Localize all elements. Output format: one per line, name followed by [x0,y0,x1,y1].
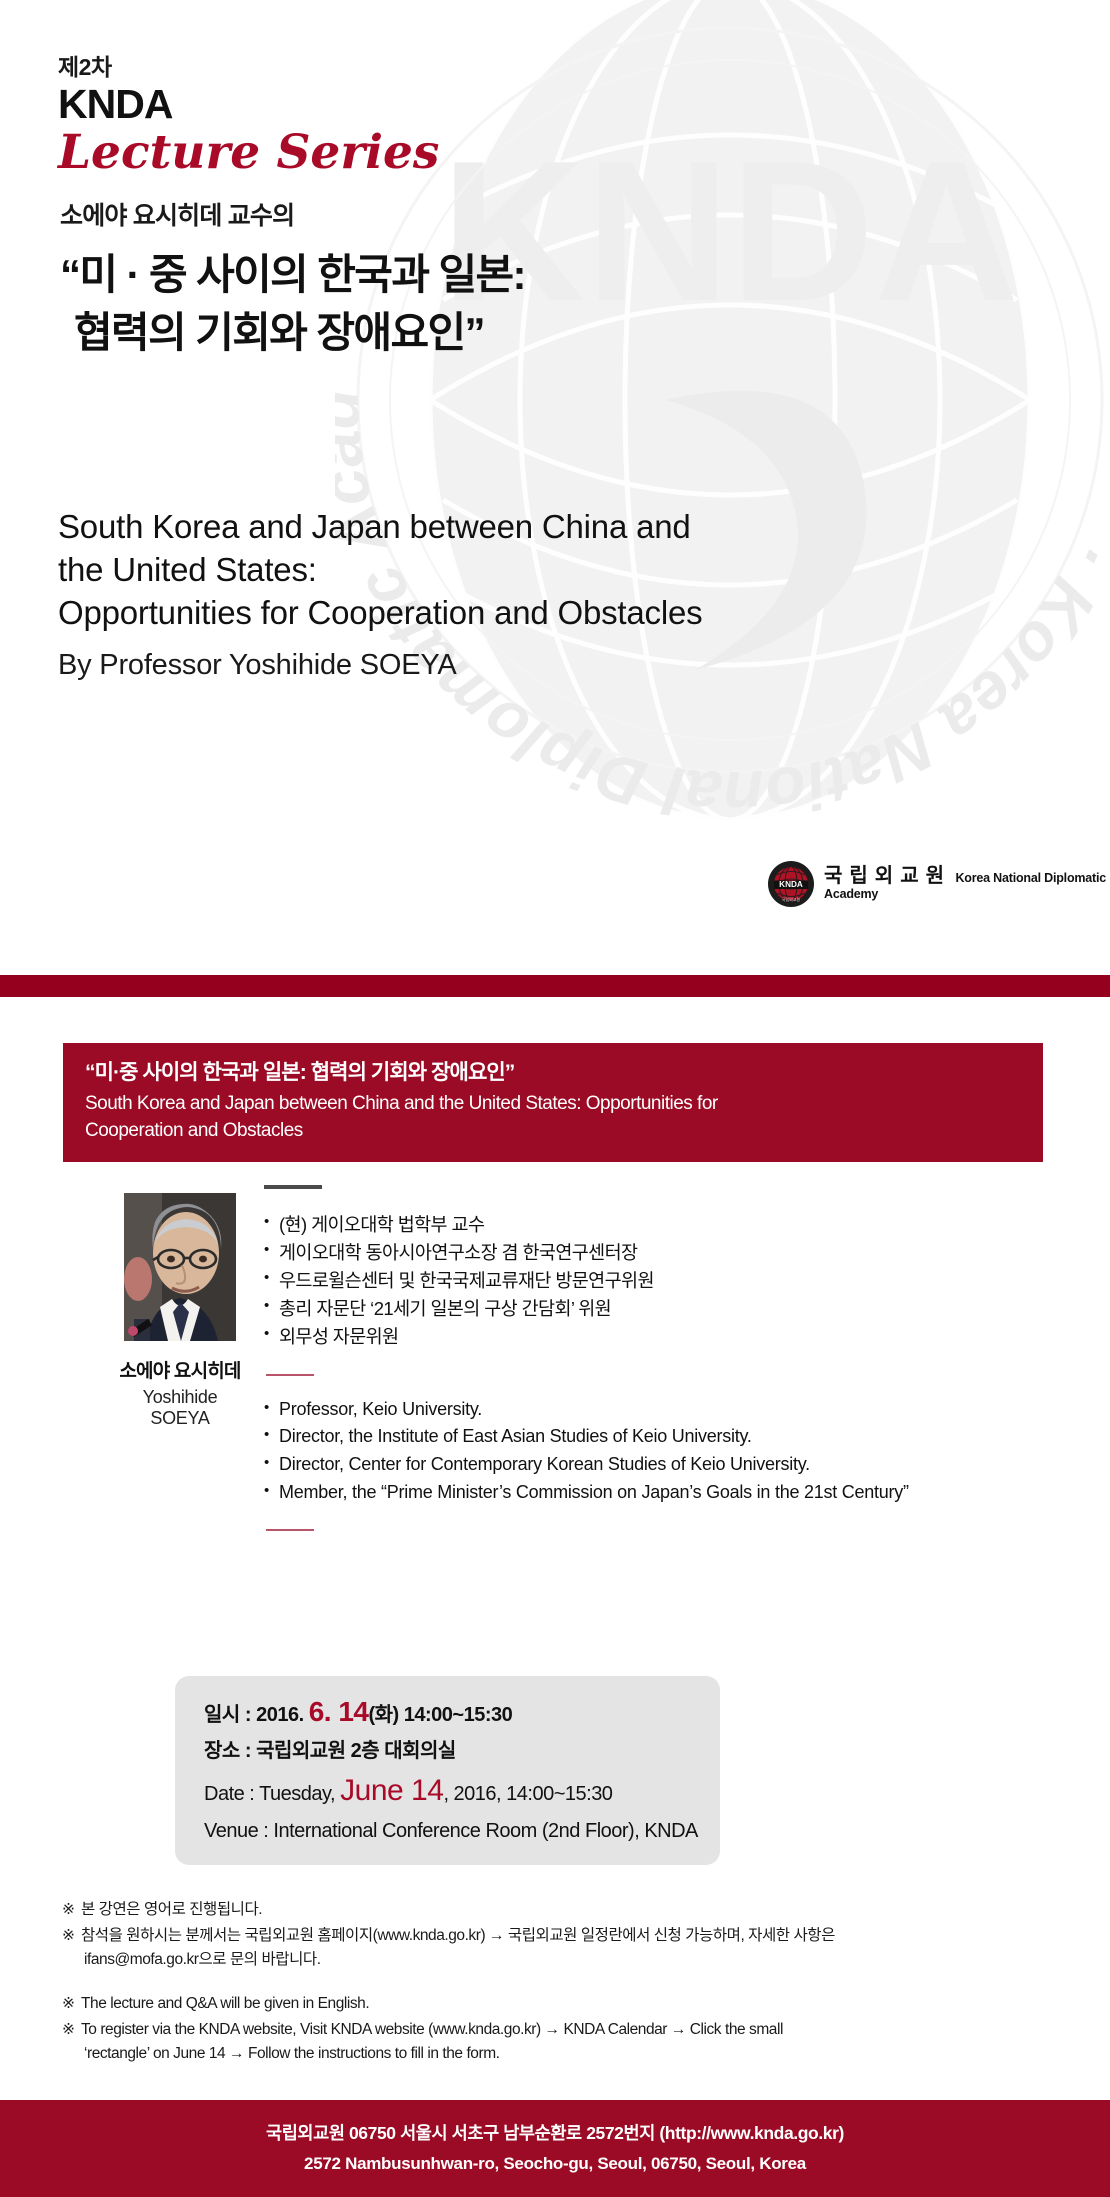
poster-header-section: 제2차 KNDA Lecture Series 소에야 요시히데 교수의 “미 … [0,0,1110,975]
banner-title-korean: “미·중 사이의 한국과 일본: 협력의 기회와 장애요인” [85,1059,1021,1086]
banner-title-english: South Korea and Japan between China and … [85,1091,1021,1143]
note-item: ※The lecture and Q&A will be given in En… [62,1992,1062,2016]
event-venue-korean: 장소 : 국립외교원 2층 대회의실 [204,1741,694,1761]
list-item: Director, the Institute of East Asian St… [264,1423,1024,1451]
bio-rule-middle [266,1374,314,1376]
english-title-line-2: the United States: [58,548,858,591]
speaker-byline: By Professor Yoshihide SOEYA [58,649,858,682]
knda-globe-emblem-icon: KNDA 국립외교원 [767,860,815,908]
korean-pretitle: 소에야 요시히데 교수의 [60,196,800,232]
speaker-bio: (현) 게이오대학 법학부 교수 게이오대학 동아시아연구소장 겸 한국연구센터… [264,1185,1024,1551]
notes-english: ※The lecture and Q&A will be given in En… [62,1992,1062,2066]
korean-title: “미 · 중 사이의 한국과 일본: 협력의 기회와 장애요인” [60,246,800,362]
list-item: 외무성 자문위원 [264,1323,1024,1351]
note-text: The lecture and Q&A will be given in Eng… [81,1995,369,2012]
english-title-block: South Korea and Japan between China and … [58,505,858,682]
list-item: 게이오대학 동아시아연구소장 겸 한국연구센터장 [264,1239,1024,1267]
footer-address-english: 2572 Nambusunhwan-ro, Seocho-gu, Seoul, … [304,2149,806,2179]
korean-title-line-2: 협력의 기회와 장애요인” [60,304,800,362]
note-item: ※본 강연은 영어로 진행됩니다. [62,1898,1062,1922]
speaker-photo [124,1193,236,1341]
korean-title-line-1: “미 · 중 사이의 한국과 일본: [60,251,525,298]
note-text: 참석을 원하시는 분께서는 국립외교원 홈페이지(www.knda.go.kr)… [81,1927,835,1944]
event-venue-english: Venue : International Conference Room (2… [204,1821,694,1841]
banner-english-line-2: Cooperation and Obstacles [85,1118,1021,1144]
bio-rule-top [264,1185,322,1189]
bio-list-korean: (현) 게이오대학 법학부 교수 게이오대학 동아시아연구소장 겸 한국연구센터… [264,1211,1024,1352]
speaker-name-korean: 소에야 요시히데 [116,1356,244,1383]
note-mark-icon: ※ [62,1898,75,1922]
note-mark-icon: ※ [62,1992,75,2016]
note-text: To register via the KNDA website, Visit … [81,2021,783,2038]
poster-footer: 국립외교원 06750 서울시 서초구 남부순환로 2572번지 (http:/… [0,2100,1110,2197]
event-date-korean-highlight: 6. 14 [309,1696,369,1727]
english-title-line-1: South Korea and Japan between China and [58,505,858,548]
event-date-korean: 일시 : 2016. 6. 14(화) 14:00~15:30 [204,1698,694,1726]
list-item: Director, Center for Contemporary Korean… [264,1451,1024,1479]
list-item: Professor, Keio University. [264,1396,1024,1424]
note-text-continued: ifans@mofa.go.kr으로 문의 바랍니다. [81,1948,1062,1972]
series-block: 제2차 KNDA Lecture Series [58,55,439,180]
note-text: 본 강연은 영어로 진행됩니다. [81,1901,262,1918]
event-details-box: 일시 : 2016. 6. 14(화) 14:00~15:30 장소 : 국립외… [175,1676,720,1865]
banner-english-line-1: South Korea and Japan between China and … [85,1091,1021,1117]
org-abbreviation: KNDA [58,82,439,128]
bio-list-english: Professor, Keio University. Director, th… [264,1396,1024,1508]
lecture-title-banner: “미·중 사이의 한국과 일본: 협력의 기회와 장애요인” South Kor… [63,1043,1043,1162]
event-date-korean-label: 일시 : [204,1704,256,1726]
note-item: ※To register via the KNDA website, Visit… [62,2018,1062,2066]
logo-text-block: 국립외교원 Korea National Diplomatic Academy [824,866,1110,903]
note-mark-icon: ※ [62,2018,75,2042]
svg-text:KNDA: KNDA [779,880,803,889]
event-date-english-rest: , 2016, 14:00~15:30 [443,1783,612,1805]
english-title: South Korea and Japan between China and … [58,505,858,635]
event-date-korean-year: 2016. [256,1704,309,1726]
knda-logo: KNDA 국립외교원 국립외교원 Korea National Diplomat… [767,860,1110,908]
section-divider [0,975,1110,997]
event-date-korean-rest: (화) 14:00~15:30 [368,1704,512,1726]
note-item: ※참석을 원하시는 분께서는 국립외교원 홈페이지(www.knda.go.kr… [62,1924,1062,1972]
bio-rule-bottom [266,1529,314,1531]
note-text-continued: ‘rectangle’ on June 14 → Follow the inst… [81,2042,1062,2066]
event-date-english-highlight: June 14 [340,1774,443,1807]
english-title-line-3: Opportunities for Cooperation and Obstac… [58,591,858,634]
logo-name-korean: 국립외교원 [824,865,951,887]
svg-text:국립외교원: 국립외교원 [782,896,801,902]
event-date-english: Date : Tuesday, June 14, 2016, 14:00~15:… [204,1776,694,1806]
list-item: Member, the “Prime Minister’s Commission… [264,1479,1024,1507]
korean-title-block: 소에야 요시히데 교수의 “미 · 중 사이의 한국과 일본: 협력의 기회와 … [60,196,800,362]
event-date-english-prefix: Tuesday, [259,1783,340,1805]
speaker-name-english: Yoshihide SOEYA [116,1387,244,1429]
list-item: (현) 게이오대학 법학부 교수 [264,1211,1024,1239]
list-item: 우드로윌슨센터 및 한국국제교류재단 방문연구위원 [264,1267,1024,1295]
notes-korean: ※본 강연은 영어로 진행됩니다. ※참석을 원하시는 분께서는 국립외교원 홈… [62,1898,1062,1972]
poster-root: KNDA · Korea National Diplomatic Academy… [0,0,1110,2197]
series-name: Lecture Series [58,126,439,180]
list-item: 총리 자문단 ‘21세기 일본의 구상 간담회’ 위원 [264,1295,1024,1323]
speaker-profile: 소에야 요시히데 Yoshihide SOEYA [116,1193,244,1429]
note-mark-icon: ※ [62,1924,75,1948]
notes-section: ※본 강연은 영어로 진행됩니다. ※참석을 원하시는 분께서는 국립외교원 홈… [62,1898,1062,2068]
series-number: 제2차 [58,55,439,80]
footer-address-korean: 국립외교원 06750 서울시 서초구 남부순환로 2572번지 (http:/… [266,2118,844,2149]
event-date-english-label: Date : [204,1783,259,1805]
